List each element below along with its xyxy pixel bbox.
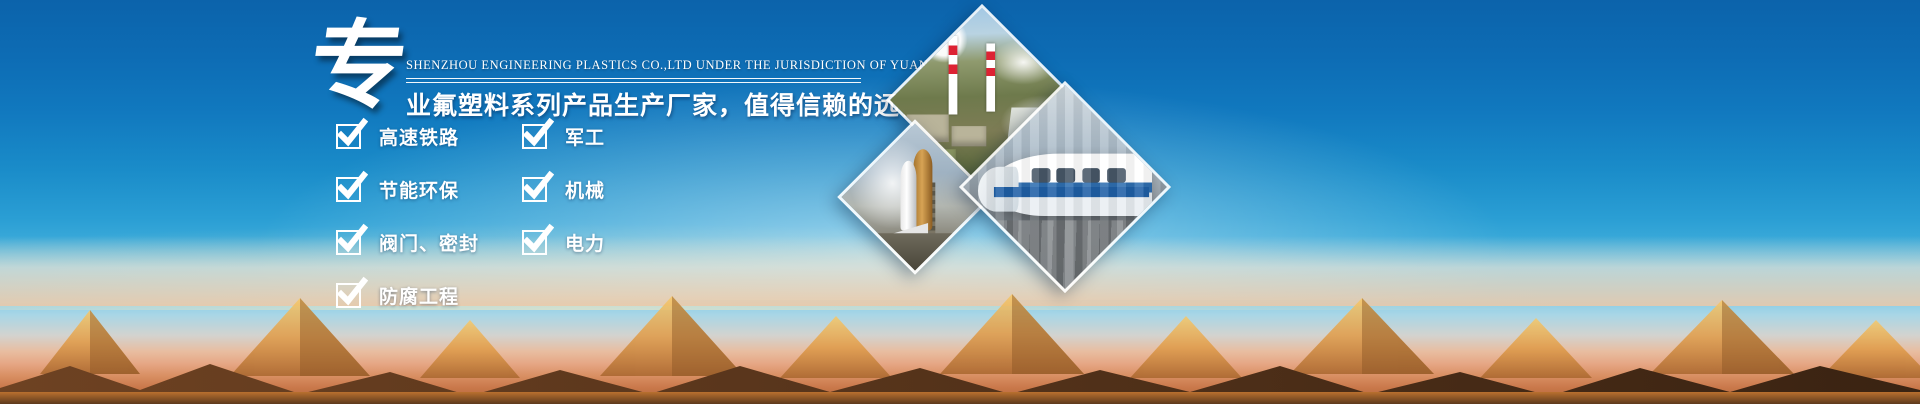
desert-dunes: [0, 254, 1920, 404]
feature-label: 节能环保: [379, 176, 459, 203]
check-icon: [522, 177, 547, 202]
feature-label: 军工: [565, 123, 605, 150]
double-rule-divider: [406, 78, 861, 83]
feature-item: 节能环保: [336, 171, 522, 208]
feature-label: 电力: [565, 229, 605, 256]
check-icon: [336, 177, 361, 202]
check-icon: [522, 230, 547, 255]
check-icon: [336, 124, 361, 149]
promo-banner: 专 SHENZHOU ENGINEERING PLASTICS CO.,LTD …: [0, 0, 1920, 404]
feature-item: 机械: [522, 171, 605, 208]
check-icon: [336, 230, 361, 255]
feature-item: 军工: [522, 118, 605, 155]
feature-item: 高速铁路: [336, 118, 522, 155]
feature-label: 高速铁路: [379, 123, 459, 150]
headline-block: 专 SHENZHOU ENGINEERING PLASTICS CO.,LTD …: [300, 14, 900, 124]
feature-label: 机械: [565, 176, 605, 203]
check-icon: [522, 124, 547, 149]
feature-label: 阀门、密封: [379, 229, 479, 256]
